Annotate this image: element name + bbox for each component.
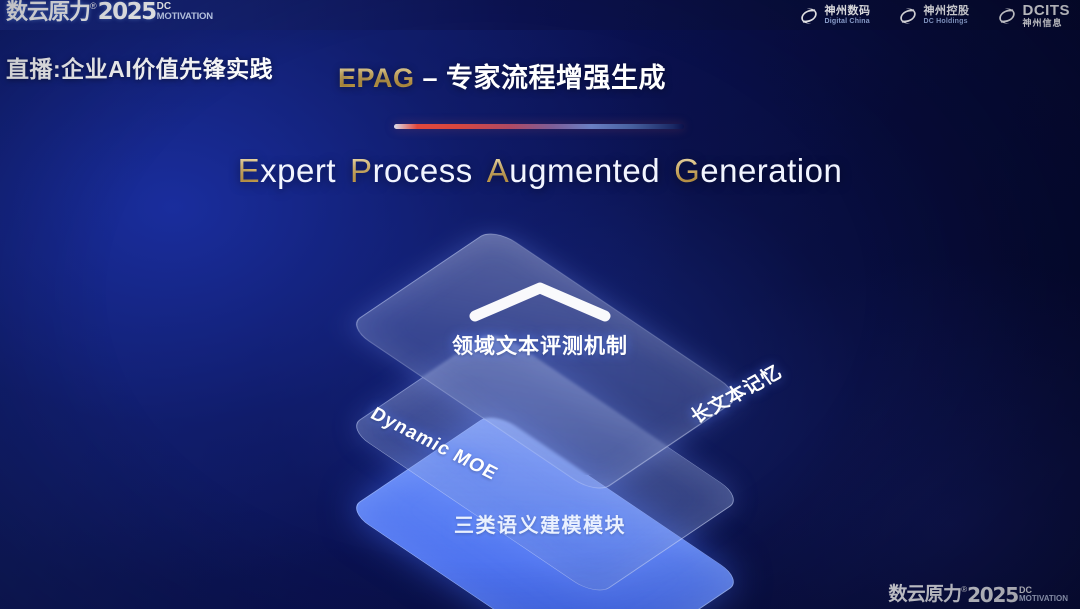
brand-logo-motivation: MOTIVATION [157, 12, 213, 21]
swoosh-icon [798, 5, 820, 27]
swoosh-icon [897, 5, 919, 27]
watermark-chinese: 数云原力 [888, 585, 961, 604]
partner-logo-dcits: DCITS 神州信息 [996, 3, 1071, 28]
swoosh-icon [996, 5, 1018, 27]
brand-logo-chinese: 数云原力 [6, 1, 90, 23]
partner-logo-digital-china: 神州数码 Digital China [798, 5, 871, 27]
page-title-chinese: 专家流程增强生成 [446, 63, 666, 93]
live-stream-title: 直播:企业AI价值先锋实践 [6, 50, 273, 84]
partner-name-cn: 神州控股 [924, 6, 970, 18]
partner-label-block: DCITS 神州信息 [1023, 3, 1071, 28]
partner-logo-dc-holdings: 神州控股 DC Holdings [897, 5, 970, 27]
partner-logo-group: 神州数码 Digital China 神州控股 DC Holdings DCIT… [798, 3, 1071, 28]
english-title: ExpertProcessAugmentedGeneration [0, 152, 1080, 190]
partner-name-en: 神州信息 [1023, 19, 1071, 28]
partner-name-en: DC Holdings [924, 18, 970, 25]
page-title: EPAG – 专家流程增强生成 [338, 56, 666, 95]
brand-logo-dc-block: DC MOTIVATION [157, 2, 213, 21]
english-title-word: Process [350, 152, 473, 190]
english-title-rest: ugmented [509, 152, 660, 189]
partner-name-en: Digital China [825, 18, 871, 25]
english-title-rest: rocess [373, 152, 473, 189]
page-title-separator: – [415, 63, 447, 93]
watermark-logo: 数云原力 ® 2025 DC MOTIVATION [888, 585, 1068, 605]
watermark-motivation: MOTIVATION [1019, 595, 1068, 603]
brand-logo-registered: ® [90, 2, 97, 11]
english-title-rest: xpert [260, 152, 336, 189]
watermark-dc-block: DC MOTIVATION [1019, 586, 1068, 602]
brand-logo: 数云原力 ® 2025 DC MOTIVATION [6, 1, 213, 24]
partner-label-block: 神州控股 DC Holdings [924, 6, 970, 25]
english-title-initial: A [487, 152, 510, 189]
english-title-initial: E [238, 152, 261, 189]
slide-canvas: 数云原力 ® 2025 DC MOTIVATION 神州数码 Digital C… [0, 0, 1080, 609]
watermark-year: 2025 [967, 585, 1018, 605]
english-title-word: Augmented [487, 152, 660, 190]
partner-name-cn: DCITS [1023, 3, 1071, 19]
partner-name-cn: 神州数码 [825, 6, 871, 18]
english-title-initial: G [674, 152, 700, 189]
page-title-acronym: EPAG [338, 63, 415, 93]
english-title-word: Expert [238, 152, 336, 190]
english-title-word: Generation [674, 152, 842, 190]
gradient-divider [394, 124, 684, 129]
layer-label-bottom: 三类语义建模模块 [0, 509, 1080, 538]
brand-logo-year: 2025 [98, 1, 156, 24]
english-title-initial: P [350, 152, 373, 189]
english-title-rest: eneration [700, 152, 842, 189]
partner-label-block: 神州数码 Digital China [825, 6, 871, 25]
layer-label-top: 领域文本评测机制 [0, 330, 1080, 360]
